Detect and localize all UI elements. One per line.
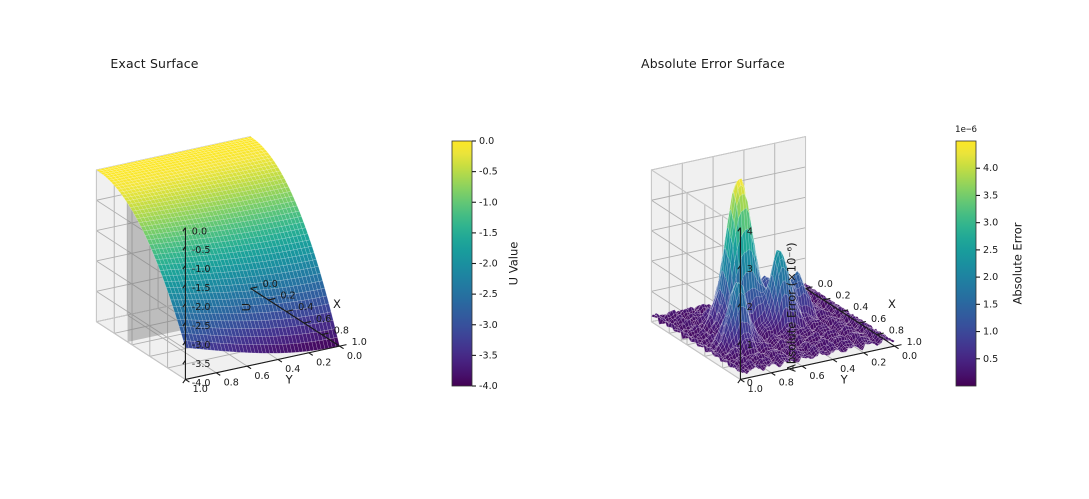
svg-text:Y: Y [285,373,294,387]
colorbar: 0.51.01.52.02.53.03.54.01e−6Absolute Err… [955,124,1025,386]
svg-text:-2.5: -2.5 [479,289,498,300]
panel-error-surface: Absolute Error Surface 0.00.20.40.60.81.… [545,0,1089,499]
svg-text:-2.0: -2.0 [479,259,498,270]
svg-text:U Value: U Value [507,242,521,286]
svg-text:-4.0: -4.0 [192,378,211,389]
svg-text:-3.5: -3.5 [192,359,211,370]
svg-text:0.0: 0.0 [479,136,494,147]
svg-text:0.4: 0.4 [298,302,313,313]
svg-text:-2.0: -2.0 [192,302,211,313]
svg-text:0.0: 0.0 [192,226,207,237]
svg-text:0.8: 0.8 [224,378,239,389]
svg-text:0.6: 0.6 [316,314,331,325]
svg-text:0.0: 0.0 [263,279,278,290]
svg-text:0.2: 0.2 [316,358,331,369]
svg-text:-0.5: -0.5 [479,167,498,178]
svg-text:-3.0: -3.0 [479,320,498,331]
svg-text:-4.0: -4.0 [479,381,498,392]
svg-text:1.0: 1.0 [352,337,367,348]
svg-text:0.6: 0.6 [254,371,269,382]
svg-text:0.0: 0.0 [347,351,362,362]
svg-text:-1.0: -1.0 [479,197,498,208]
panel-exact-surface: Exact Surface 0.00.20.40.60.81.0X0.00.20… [0,0,545,499]
plot-exact-surface: 0.00.20.40.60.81.0X0.00.20.40.60.81.0Y-4… [0,0,545,499]
svg-text:-1.5: -1.5 [192,283,211,294]
svg-text:-3.0: -3.0 [192,340,211,351]
figure-canvas: Exact Surface 0.00.20.40.60.81.0X0.00.20… [0,0,1089,499]
svg-text:-0.5: -0.5 [192,245,211,256]
plot-error-surface: 0.00.20.40.60.81.0X0.00.20.40.60.81.0Y01… [545,0,1089,499]
svg-text:-2.5: -2.5 [192,321,211,332]
svg-text:0.8: 0.8 [334,325,349,336]
svg-text:X: X [333,297,341,311]
svg-text:U: U [239,303,253,311]
svg-text:-1.5: -1.5 [479,228,498,239]
svg-text:-3.5: -3.5 [479,350,498,361]
svg-text:0.2: 0.2 [280,291,295,302]
svg-text:-1.0: -1.0 [192,264,211,275]
colorbar: 0.0-0.5-1.0-1.5-2.0-2.5-3.0-3.5-4.0U Val… [452,136,521,392]
